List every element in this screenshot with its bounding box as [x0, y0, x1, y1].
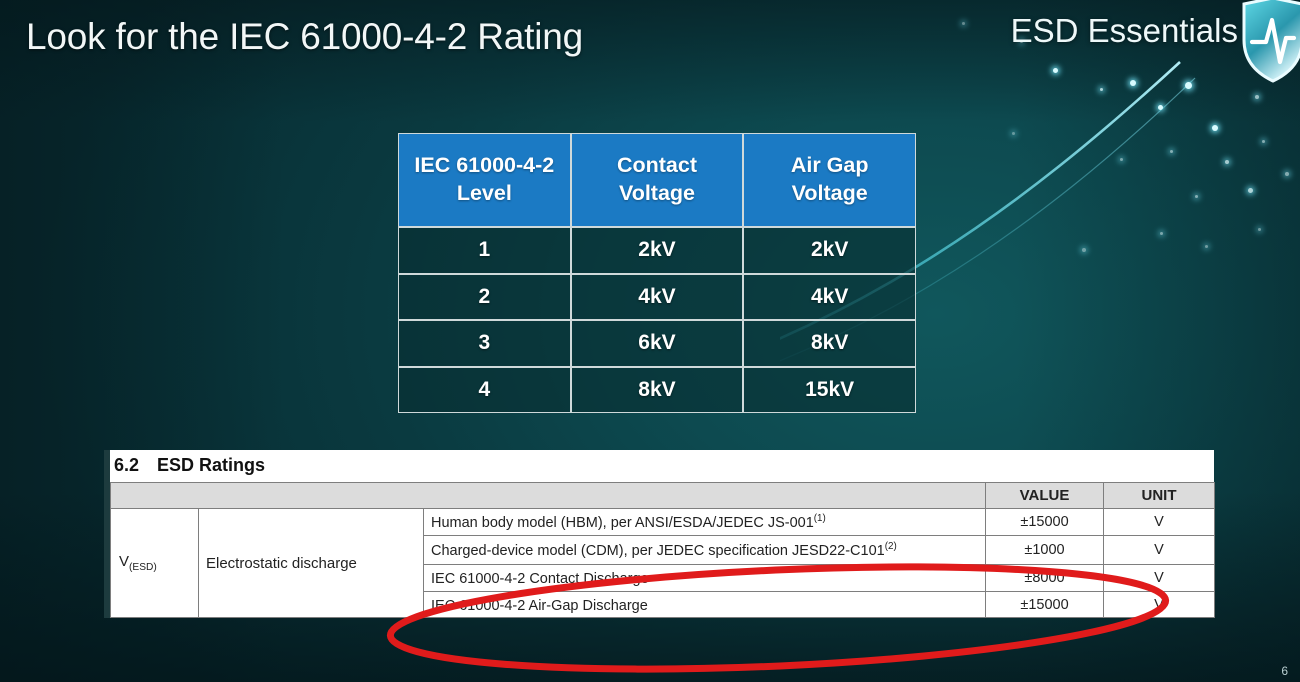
page-title: Look for the IEC 61000-4-2 Rating — [26, 16, 583, 58]
section-number: 6.2 — [114, 455, 139, 475]
particle — [1195, 195, 1198, 198]
particle — [1225, 160, 1229, 164]
particle — [1185, 82, 1192, 89]
esd-unit: V — [1104, 509, 1215, 536]
particle — [1258, 228, 1261, 231]
iec-header-airgap: Air Gap Voltage — [743, 133, 916, 227]
datasheet-excerpt: 6.2ESD Ratings VALUE UNIT V(ESD) El — [104, 450, 1214, 618]
particle — [1248, 188, 1253, 193]
particle — [1012, 132, 1015, 135]
table-row: 4 8kV 15kV — [398, 367, 916, 414]
esd-value: ±8000 — [986, 564, 1104, 591]
esd-value: ±15000 — [986, 509, 1104, 536]
iec-cell-level: 3 — [398, 320, 571, 367]
iec-level-table: IEC 61000-4-2 Level Contact Voltage Air … — [398, 133, 916, 413]
particle — [1255, 95, 1259, 99]
table-row: 3 6kV 8kV — [398, 320, 916, 367]
datasheet-section-heading: 6.2ESD Ratings — [110, 450, 1214, 482]
esd-value: ±1000 — [986, 535, 1104, 564]
iec-cell-level: 4 — [398, 367, 571, 414]
esd-description-text: IEC 61000-4-2 Air-Gap Discharge — [431, 597, 648, 613]
iec-cell-contact: 4kV — [571, 274, 744, 321]
particle — [1212, 125, 1218, 131]
esd-footnote-marker: (1) — [814, 513, 826, 524]
particle — [1082, 248, 1086, 252]
iec-header-contact-line2: Voltage — [619, 181, 695, 205]
iec-header-airgap-line2: Voltage — [792, 181, 868, 205]
iec-cell-airgap: 8kV — [743, 320, 916, 367]
esd-symbol-cell: V(ESD) — [111, 509, 199, 618]
iec-cell-airgap: 4kV — [743, 274, 916, 321]
iec-table-header-row: IEC 61000-4-2 Level Contact Voltage Air … — [398, 133, 916, 227]
esd-ratings-table: VALUE UNIT V(ESD) Electrostatic discharg… — [110, 482, 1215, 618]
iec-cell-contact: 6kV — [571, 320, 744, 367]
particle — [962, 22, 965, 25]
esd-symbol: V — [119, 553, 129, 570]
iec-cell-level: 1 — [398, 227, 571, 274]
iec-header-level: IEC 61000-4-2 Level — [398, 133, 571, 227]
particle — [1120, 158, 1123, 161]
iec-header-level-line2: Level — [457, 181, 512, 205]
particle — [1158, 105, 1163, 110]
iec-cell-contact: 2kV — [571, 227, 744, 274]
iec-cell-contact: 8kV — [571, 367, 744, 414]
esd-description: Human body model (HBM), per ANSI/ESDA/JE… — [424, 509, 986, 536]
particle — [1053, 68, 1058, 73]
slide-canvas: Look for the IEC 61000-4-2 Rating ESD Es… — [0, 0, 1300, 682]
page-number: 6 — [1281, 664, 1288, 678]
esd-unit: V — [1104, 535, 1215, 564]
iec-header-level-line1: IEC 61000-4-2 — [414, 153, 554, 177]
iec-header-contact: Contact Voltage — [571, 133, 744, 227]
esd-description: IEC 61000-4-2 Air-Gap Discharge — [424, 591, 986, 618]
iec-header-airgap-line1: Air Gap — [791, 153, 869, 177]
esd-parameter-cell: Electrostatic discharge — [199, 509, 424, 618]
table-row: V(ESD) Electrostatic discharge Human bod… — [111, 509, 1215, 536]
particle — [1100, 88, 1103, 91]
iec-cell-level: 2 — [398, 274, 571, 321]
esd-description-text: IEC 61000-4-2 Contact Discharge — [431, 571, 649, 587]
particle — [1205, 245, 1208, 248]
esd-value: ±15000 — [986, 591, 1104, 618]
particle — [1130, 80, 1136, 86]
esd-description-text: Charged-device model (CDM), per JEDEC sp… — [431, 543, 885, 559]
esd-footnote-marker: (2) — [885, 541, 897, 552]
esd-description: IEC 61000-4-2 Contact Discharge — [424, 564, 986, 591]
iec-header-contact-line1: Contact — [617, 153, 697, 177]
esd-symbol-subscript: (ESD) — [129, 562, 157, 573]
iec-cell-airgap: 15kV — [743, 367, 916, 414]
brand-label: ESD Essentials — [1011, 12, 1238, 50]
table-row: 1 2kV 2kV — [398, 227, 916, 274]
esd-header-blank — [111, 483, 986, 509]
table-row: 2 4kV 4kV — [398, 274, 916, 321]
esd-unit: V — [1104, 564, 1215, 591]
iec-cell-airgap: 2kV — [743, 227, 916, 274]
esd-unit: V — [1104, 591, 1215, 618]
section-title: ESD Ratings — [157, 455, 265, 475]
esd-header-unit: UNIT — [1104, 483, 1215, 509]
esd-header-value: VALUE — [986, 483, 1104, 509]
particle — [1160, 232, 1163, 235]
particle — [1285, 172, 1289, 176]
esd-table-header-row: VALUE UNIT — [111, 483, 1215, 509]
esd-description-text: Human body model (HBM), per ANSI/ESDA/JE… — [431, 515, 814, 531]
esd-description: Charged-device model (CDM), per JEDEC sp… — [424, 535, 986, 564]
particle — [1170, 150, 1173, 153]
shield-pulse-icon — [1240, 0, 1300, 84]
particle — [1262, 140, 1265, 143]
